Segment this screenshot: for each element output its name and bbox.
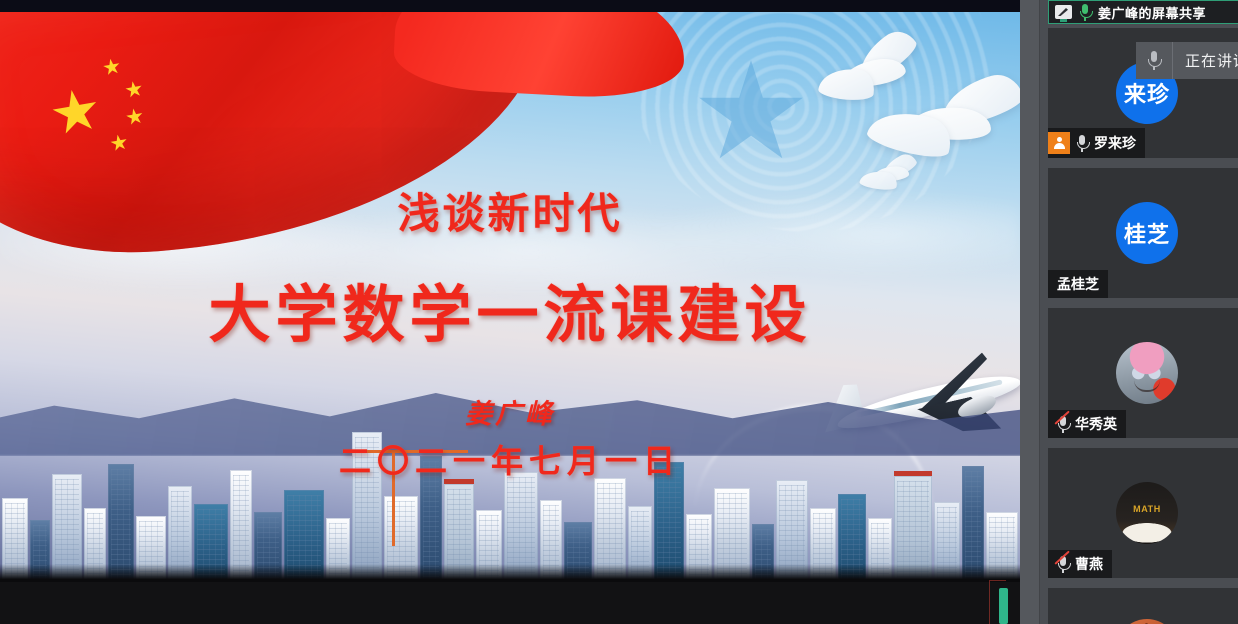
shared-screen-area[interactable]: 浅谈新时代 大学数学一流课建设 姜广峰 二〇二一年七月一日 xyxy=(0,0,1020,624)
participant-name-3: 华秀英 xyxy=(1075,414,1117,434)
avatar-photo-text: MATH xyxy=(1133,504,1161,514)
avatar: 桂芝 xyxy=(1116,202,1178,264)
participant-mic-icon-1[interactable] xyxy=(1076,135,1088,152)
avatar-initials: 桂芝 xyxy=(1124,217,1170,249)
participant-namebar-1: 罗来珍 xyxy=(1048,128,1145,158)
microphone-icon xyxy=(1079,4,1091,21)
participant-tiles-list[interactable]: 来珍 正在讲话 罗来珍 桂 xyxy=(1048,28,1238,624)
host-badge-icon xyxy=(1048,132,1070,154)
participant-tile-5[interactable] xyxy=(1048,588,1238,624)
speaking-tooltip: 正在讲话 xyxy=(1136,42,1238,79)
screen-share-header[interactable]: 姜广峰的屏幕共享 xyxy=(1048,0,1238,24)
shared-screen-topbar xyxy=(0,0,1020,12)
avatar: MATH xyxy=(1116,482,1178,544)
avatar xyxy=(1116,619,1178,624)
participant-namebar-3: 华秀英 xyxy=(1048,410,1126,438)
slide-author: 姜广峰 xyxy=(0,392,1020,431)
screen-share-label: 姜广峰的屏幕共享 xyxy=(1098,3,1206,22)
participant-namebar-2: 孟桂芝 xyxy=(1048,270,1108,298)
avatar-initials: 来珍 xyxy=(1124,77,1170,109)
share-active-indicator xyxy=(999,588,1008,624)
avatar xyxy=(1116,342,1178,404)
slide-subtitle: 浅谈新时代 xyxy=(0,180,1020,241)
slide-date: 二〇二一年七月一日 xyxy=(0,436,1020,482)
participant-name-4: 曹燕 xyxy=(1075,554,1103,574)
participant-tile-1[interactable]: 来珍 正在讲话 罗来珍 xyxy=(1048,28,1238,158)
participant-sidebar[interactable]: 姜广峰的屏幕共享 来珍 正在讲话 罗 xyxy=(1020,0,1238,624)
participant-mic-muted-icon-3[interactable] xyxy=(1057,416,1069,433)
sidebar-scroll-gutter[interactable] xyxy=(1020,0,1040,624)
participant-tile-2[interactable]: 桂芝 孟桂芝 xyxy=(1048,168,1238,298)
tooltip-text: 正在讲话 xyxy=(1172,42,1238,79)
tooltip-microphone-icon xyxy=(1136,42,1172,79)
participant-tile-4[interactable]: MATH 曹燕 xyxy=(1048,448,1238,578)
slide-title: 大学数学一流课建设 xyxy=(0,264,1020,354)
participant-namebar-4: 曹燕 xyxy=(1048,550,1112,578)
meeting-window: 浅谈新时代 大学数学一流课建设 姜广峰 二〇二一年七月一日 姜广峰的屏幕共享 xyxy=(0,0,1238,624)
presentation-slide: 浅谈新时代 大学数学一流课建设 姜广峰 二〇二一年七月一日 xyxy=(0,12,1020,582)
shared-screen-bottom-bar xyxy=(0,582,1020,624)
slide-text-block: 浅谈新时代 大学数学一流课建设 姜广峰 二〇二一年七月一日 xyxy=(0,12,1020,582)
participant-name-2: 孟桂芝 xyxy=(1057,274,1099,294)
participant-mic-muted-icon-4[interactable] xyxy=(1057,556,1069,573)
participant-tile-3[interactable]: 华秀英 xyxy=(1048,308,1238,438)
monitor-icon xyxy=(1055,5,1072,19)
participant-name-1: 罗来珍 xyxy=(1094,133,1136,153)
